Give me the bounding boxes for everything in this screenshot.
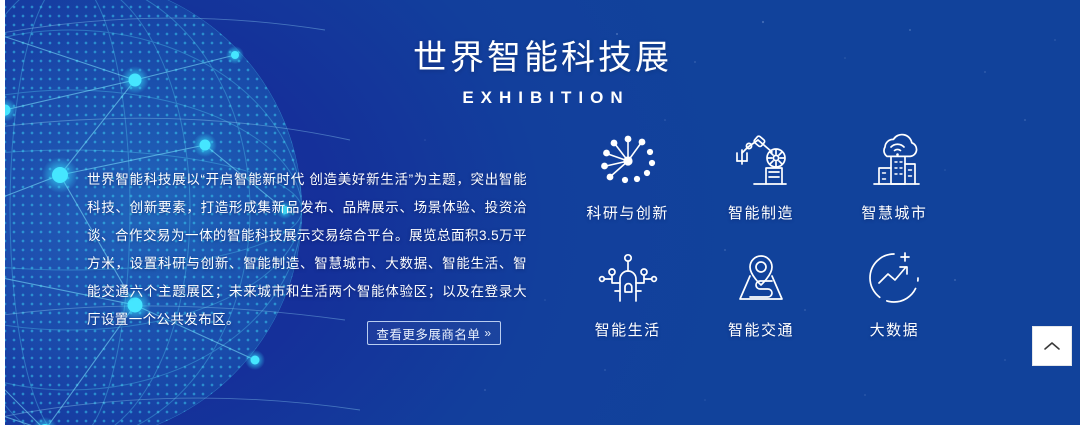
zone-item-smart-life[interactable]: 智能生活 bbox=[561, 245, 694, 340]
zone-item-research-innovation[interactable]: 科研与创新 bbox=[561, 128, 694, 223]
map-pin-road-icon bbox=[728, 245, 794, 311]
zone-label: 大数据 bbox=[870, 319, 920, 340]
smart-home-circuit-icon bbox=[595, 245, 661, 311]
exhibition-description: 世界智能科技展以“开启智能新时代 创造美好新生活”为主题，突出智能科技、创新要素… bbox=[87, 166, 527, 334]
banner-background: 世界智能科技展 EXHIBITION 世界智能科技展以“开启智能新时代 创造美好… bbox=[5, 0, 1080, 425]
zone-label: 科研与创新 bbox=[586, 202, 669, 223]
robot-arm-icon bbox=[728, 128, 794, 194]
zone-label: 智能制造 bbox=[728, 202, 794, 223]
back-to-top-button[interactable] bbox=[1032, 326, 1072, 366]
view-more-exhibitors-button[interactable]: 查看更多展商名单 » bbox=[367, 321, 501, 345]
chevron-up-icon bbox=[1043, 340, 1061, 352]
zone-label: 智能生活 bbox=[595, 319, 661, 340]
network-nodes-icon bbox=[595, 128, 661, 194]
zone-label: 智能交通 bbox=[728, 319, 794, 340]
page-title: 世界智能科技展 bbox=[5, 36, 1080, 80]
zone-icon-grid: 科研与创新 bbox=[561, 128, 961, 340]
cta-label: 查看更多展商名单 bbox=[376, 324, 480, 343]
zone-item-smart-city[interactable]: 智慧城市 bbox=[828, 128, 961, 223]
zone-item-smart-transportation[interactable]: 智能交通 bbox=[694, 245, 827, 340]
chevron-right-icon: » bbox=[484, 326, 491, 340]
promo-banner-page: 世界智能科技展 EXHIBITION 世界智能科技展以“开启智能新时代 创造美好… bbox=[0, 0, 1080, 425]
title-block: 世界智能科技展 EXHIBITION bbox=[5, 36, 1080, 108]
trend-chart-circle-icon bbox=[861, 245, 927, 311]
zone-label: 智慧城市 bbox=[861, 202, 927, 223]
zone-item-smart-manufacturing[interactable]: 智能制造 bbox=[694, 128, 827, 223]
cloud-city-icon bbox=[861, 128, 927, 194]
zone-item-big-data[interactable]: 大数据 bbox=[828, 245, 961, 340]
page-subtitle: EXHIBITION bbox=[5, 88, 1080, 108]
